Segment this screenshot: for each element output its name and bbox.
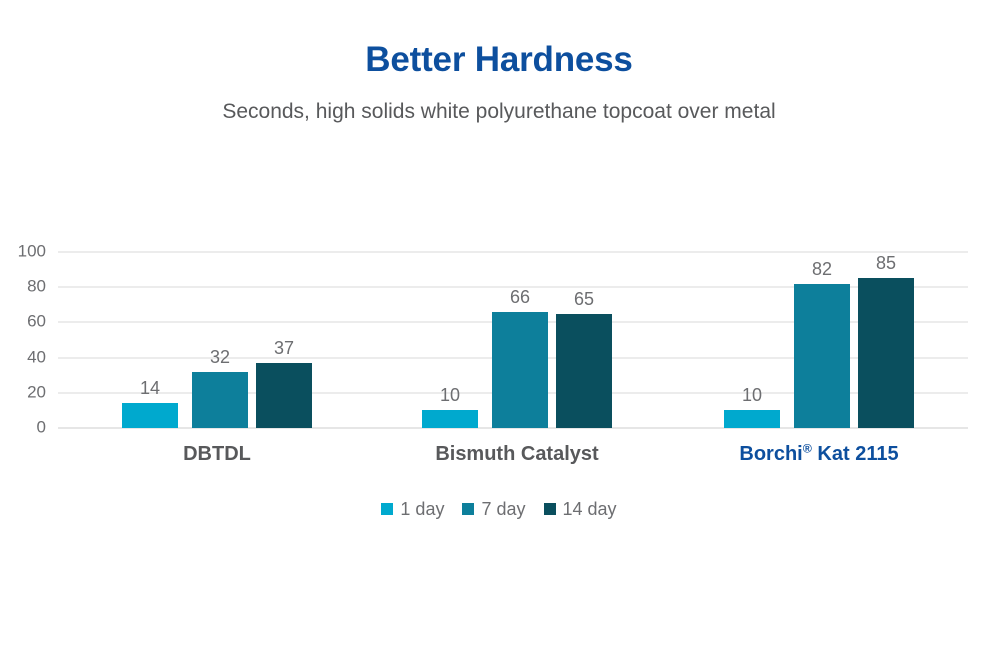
category-label-borchi-brand: Borchi [739,443,802,465]
y-axis-tick-20: 20 [0,383,46,400]
title-block: Better Hardness Seconds, high solids whi… [0,40,998,124]
bar-dbtdl-7-day[interactable] [192,372,248,428]
bar-bismuth-1-day[interactable] [422,410,478,428]
bar-wrap-dbtdl-1-day[interactable]: 14 [122,215,178,428]
category-label-bismuth-catalyst: Bismuth Catalyst [435,442,598,466]
legend-item-14-day[interactable]: 14 day [544,500,617,518]
bar-bismuth-7-day[interactable] [492,312,548,428]
legend-label-7-day: 7 day [481,500,525,518]
bar-label-dbtdl-14-day: 37 [256,339,312,357]
bar-group-borchi-kat-2115: 10 82 85 [724,215,914,428]
legend-swatch-icon-1-day [381,503,393,515]
legend-label-14-day: 14 day [563,500,617,518]
bar-wrap-dbtdl-14-day[interactable]: 37 [256,215,312,428]
category-axis: DBTDL Bismuth Catalyst Borchi® Kat 2115 [58,442,968,472]
legend-item-7-day[interactable]: 7 day [462,500,525,518]
bar-group-bismuth-catalyst: 10 66 65 [422,215,612,428]
y-axis-tick-0: 0 [0,419,46,436]
bar-dbtdl-14-day[interactable] [256,363,312,428]
chart-title: Better Hardness [0,40,998,80]
chart-subtitle: Seconds, high solids white polyurethane … [0,80,998,124]
legend-label-1-day: 1 day [400,500,444,518]
bars-layer: 14 32 37 10 66 65 [58,215,968,428]
bar-wrap-bismuth-1-day[interactable]: 10 [422,215,478,428]
bar-label-borchi-1-day: 10 [724,386,780,404]
legend: 1 day 7 day 14 day [0,500,998,518]
y-axis-tick-40: 40 [0,348,46,365]
category-label-dbtdl: DBTDL [183,442,251,466]
bar-label-borchi-7-day: 82 [794,260,850,278]
y-axis-tick-80: 80 [0,278,46,295]
bar-label-bismuth-14-day: 65 [556,290,612,308]
bar-wrap-bismuth-7-day[interactable]: 66 [492,215,548,428]
bar-borchi-14-day[interactable] [858,278,914,428]
chart-container: Better Hardness Seconds, high solids whi… [0,0,998,665]
y-axis: 100 80 60 40 20 0 [0,251,46,427]
bar-borchi-7-day[interactable] [794,284,850,428]
bar-wrap-dbtdl-7-day[interactable]: 32 [192,215,248,428]
bar-wrap-borchi-7-day[interactable]: 82 [794,215,850,428]
category-label-borchi-product: Kat 2115 [812,443,899,465]
legend-swatch-icon-7-day [462,503,474,515]
bar-borchi-1-day[interactable] [724,410,780,428]
bar-label-dbtdl-7-day: 32 [192,348,248,366]
bar-wrap-borchi-1-day[interactable]: 10 [724,215,780,428]
bar-label-bismuth-1-day: 10 [422,386,478,404]
legend-item-1-day[interactable]: 1 day [381,500,444,518]
bar-group-dbtdl: 14 32 37 [122,215,312,428]
y-axis-tick-100: 100 [0,243,46,260]
y-axis-tick-60: 60 [0,313,46,330]
bar-dbtdl-1-day[interactable] [122,403,178,428]
bar-label-bismuth-7-day: 66 [492,288,548,306]
bar-wrap-bismuth-14-day[interactable]: 65 [556,215,612,428]
bar-bismuth-14-day[interactable] [556,314,612,428]
bar-label-dbtdl-1-day: 14 [122,379,178,397]
legend-swatch-icon-14-day [544,503,556,515]
bar-wrap-borchi-14-day[interactable]: 85 [858,215,914,428]
bar-label-borchi-14-day: 85 [858,254,914,272]
category-label-borchi-kat-2115: Borchi® Kat 2115 [739,442,898,466]
